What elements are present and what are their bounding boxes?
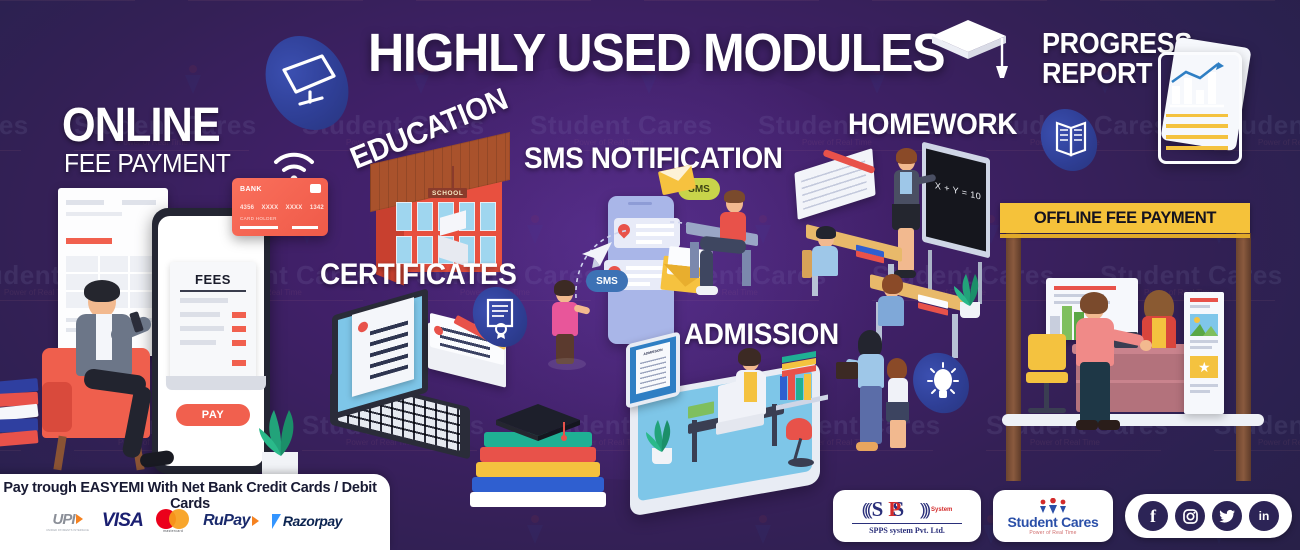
receipt-rule — [180, 290, 246, 292]
watermark-bird-icon — [752, 514, 774, 544]
armchair-leg — [53, 436, 66, 471]
paper-plane-icon — [580, 240, 614, 270]
label-homework: HOMEWORK — [848, 108, 1017, 142]
payment-logos: UPI UNIFIED PAYMENTS INTERFACE VISA mast… — [14, 504, 374, 538]
teacher-hair — [896, 148, 917, 164]
book-stack-item — [0, 430, 38, 447]
label-admission: ADMISSION — [684, 318, 839, 352]
watermark-bird-icon — [524, 514, 546, 544]
doc-line — [66, 212, 122, 216]
office-chair-base — [1028, 408, 1066, 413]
rollup-image-icon — [1190, 314, 1218, 336]
spps-mark-mid: P — [888, 497, 901, 522]
visitor-hand — [1140, 340, 1152, 351]
promo-banner: Student CaresPower of Real TimeStudent C… — [0, 0, 1300, 550]
board-line — [1054, 286, 1116, 290]
rollup-line — [1190, 305, 1210, 308]
watermark-tagline: Power of Real Time — [1258, 138, 1300, 147]
certificate-icon — [482, 296, 520, 340]
offline-fee-payment-label: OFFLINE FEE PAYMENT — [1034, 209, 1216, 228]
facebook-icon[interactable]: f — [1138, 501, 1168, 531]
student-hair — [816, 226, 836, 239]
card-stripe — [292, 226, 318, 229]
report-chart-icon — [1166, 60, 1228, 110]
sms-woman-platform — [548, 358, 586, 370]
banner-underline — [1000, 234, 1250, 238]
student-torso — [812, 246, 838, 276]
student-cares-badge[interactable]: Student Cares Power of Real Time — [993, 490, 1113, 542]
social-links: f in — [1125, 494, 1292, 538]
twitter-icon[interactable] — [1212, 501, 1242, 531]
parent-legs — [860, 386, 882, 444]
report-lines — [1166, 114, 1228, 150]
offline-fee-payment-banner: OFFLINE FEE PAYMENT — [1000, 203, 1250, 233]
watermark-rule — [644, 0, 819, 1]
school-sign: SCHOOL — [428, 188, 467, 198]
book-item — [472, 477, 604, 492]
child-hair — [887, 358, 907, 380]
lightbulb-icon — [926, 362, 960, 404]
watermark-rule — [872, 0, 1047, 1]
rollup-line — [1190, 298, 1218, 302]
upi-logo-chevrons — [76, 514, 83, 524]
receipt-line — [180, 298, 228, 303]
man-hair — [84, 280, 120, 302]
office-chair-back — [1028, 334, 1066, 370]
card-group: 4356 — [240, 205, 254, 211]
spps-footer: SPPS system Pvt. Ltd. — [869, 526, 945, 535]
plant-leaves-icon — [644, 418, 680, 452]
razorpay-logo-mark — [272, 514, 281, 529]
watermark-tagline: Power of Real Time — [1258, 438, 1300, 447]
visitor-shoe — [1076, 420, 1098, 430]
label-report: REPORT — [1042, 58, 1152, 91]
sms-man-shin — [700, 250, 713, 290]
book-item — [470, 492, 606, 507]
receipt-amount — [232, 326, 246, 332]
brand-badges: ((( S S P ))) System SPPS system Pvt. Lt… — [833, 490, 1292, 542]
desk-lamp-shade — [786, 418, 812, 440]
receipt-title: FEES — [170, 272, 256, 287]
page-title: HIGHLY USED MODULES — [368, 22, 944, 84]
book-icon — [1052, 118, 1090, 160]
shelf-book — [780, 376, 787, 400]
instagram-icon[interactable] — [1175, 501, 1205, 531]
bank-card-holder-label: CARD HOLDER — [240, 216, 277, 221]
teacher-skirt — [892, 204, 920, 230]
admission-staff-vest — [744, 372, 757, 402]
mastercard-logo-text: mastercard — [163, 529, 183, 533]
card-group: XXXX — [262, 205, 279, 211]
spps-wave-right-icon: ))) — [920, 500, 928, 520]
book-item — [476, 462, 600, 477]
school-window — [417, 202, 433, 231]
visitor-legs — [1080, 362, 1110, 424]
spps-badge[interactable]: ((( S S P ))) System SPPS system Pvt. Lt… — [833, 490, 981, 542]
watermark-tagline: Power of Real Time — [1030, 438, 1100, 447]
office-chair-seat — [1026, 372, 1068, 383]
label-sms-notification: SMS NOTIFICATION — [524, 142, 783, 176]
doc-line — [66, 200, 104, 205]
visa-logo-text: VISA — [102, 510, 143, 532]
student-cares-mark-icon — [1036, 498, 1070, 514]
bank-card-label: BANK — [240, 186, 262, 193]
student-torso — [878, 296, 904, 326]
school-flagpole — [452, 166, 454, 190]
receipt-amount — [232, 312, 246, 318]
razorpay-logo: Razorpay — [272, 508, 342, 534]
plant-leaves-icon — [952, 272, 988, 306]
sms-man-shoe — [696, 286, 718, 295]
sms-woman-hair — [554, 280, 575, 296]
student-chair — [802, 250, 812, 278]
label-online: ONLINE — [62, 98, 220, 153]
watermark-rule — [1100, 0, 1275, 1]
receipt-line — [180, 326, 224, 331]
graduation-cap-on-books-icon — [494, 402, 582, 444]
banner-post-left — [1006, 233, 1021, 481]
briefcase-icon — [836, 362, 858, 379]
rollup-line — [1190, 384, 1218, 387]
visitor-shoe — [1098, 420, 1120, 430]
doc-line — [122, 200, 156, 205]
receptionist-blouse — [1152, 318, 1166, 348]
doc-accent-line — [66, 238, 112, 244]
rollup-banner — [1184, 292, 1224, 414]
student-cares-tagline: Power of Real Time — [1029, 530, 1076, 536]
rollup-line — [1190, 346, 1212, 349]
book-item — [480, 447, 596, 462]
card-stripe — [240, 226, 278, 229]
receipt-amount — [232, 360, 246, 366]
card-group: XXXX — [286, 205, 303, 211]
watermark-rule — [188, 0, 363, 1]
watermark-rule — [416, 0, 591, 1]
shelf-book — [804, 374, 811, 400]
visitor-hair — [1080, 292, 1108, 314]
student-hair — [882, 274, 903, 294]
student-cares-name: Student Cares — [1007, 514, 1098, 530]
banner-post-right — [1236, 233, 1251, 481]
parent-shoe — [856, 442, 878, 451]
watermark-bird-icon — [182, 64, 204, 94]
bank-card-chip — [310, 184, 321, 193]
shelf-book — [796, 378, 803, 400]
parent-torso — [858, 354, 884, 388]
office-chair-post — [1044, 383, 1049, 409]
bank-card-number: 4356 XXXX XXXX 1342 — [240, 205, 324, 211]
reception-floor — [1002, 414, 1264, 426]
watermark-rule — [1214, 450, 1300, 451]
upi-logo-text: UPI — [52, 511, 74, 528]
admission-staff-hair — [738, 348, 761, 366]
monitor-icon — [276, 48, 340, 118]
rollup-line — [1190, 390, 1210, 393]
receipt-amount — [232, 340, 246, 346]
man-shirt — [96, 314, 112, 360]
spps-suffix: System — [931, 507, 952, 513]
watermark-rule — [0, 150, 21, 151]
teacher-blouse — [900, 172, 912, 194]
pay-button[interactable]: PAY — [176, 404, 250, 426]
shelf-book — [788, 374, 795, 400]
armchair-arm — [42, 382, 72, 432]
watermark-rule — [0, 450, 21, 451]
child-torso — [888, 378, 908, 404]
rupay-logo-text: RuPay — [203, 512, 250, 530]
linkedin-icon[interactable]: in — [1249, 501, 1279, 531]
school-window — [480, 202, 496, 231]
rupay-logo: RuPay — [203, 508, 259, 534]
certificate-lines — [370, 315, 408, 380]
bench-leg — [742, 250, 751, 286]
upi-logo: UPI UNIFIED PAYMENTS INTERFACE — [46, 508, 89, 534]
label-fee-payment: FEE PAYMENT — [64, 148, 230, 179]
plant-leaves-icon — [256, 406, 306, 456]
school-window — [396, 202, 412, 231]
bench-leg — [690, 242, 699, 278]
receipt-torn-edge — [166, 376, 266, 390]
rupay-logo-arrow — [252, 516, 259, 526]
watermark-rule — [0, 0, 135, 1]
child-legs — [890, 420, 906, 448]
label-certificates: CERTIFICATES — [320, 258, 517, 292]
doc-table-row — [66, 272, 160, 274]
rollup-line — [1190, 340, 1218, 343]
spps-wave-left-icon: ((( — [862, 500, 870, 520]
receipt-line — [180, 340, 216, 345]
watermark-text: Student Cares — [0, 110, 29, 141]
desk-lamp-base — [788, 458, 814, 467]
child-skirt — [886, 402, 909, 422]
blackboard-leg — [928, 250, 932, 292]
desk-leg — [692, 420, 697, 462]
upi-logo-sublabel: UNIFIED PAYMENTS INTERFACE — [46, 529, 89, 532]
mastercard-logo: mastercard — [156, 508, 190, 534]
graduation-cap-icon — [930, 16, 1010, 86]
receipt-line — [180, 312, 220, 317]
doc-table-col — [128, 256, 130, 308]
desk-leg — [952, 314, 958, 358]
sms-man-hair — [724, 190, 745, 203]
card-group: 1342 — [310, 205, 324, 211]
visitor-torso — [1076, 318, 1114, 366]
payment-bar: Pay trough EASYEMI With Net Bank Credit … — [0, 474, 390, 550]
visa-logo: VISA — [102, 508, 143, 534]
razorpay-logo-text: Razorpay — [283, 513, 342, 529]
